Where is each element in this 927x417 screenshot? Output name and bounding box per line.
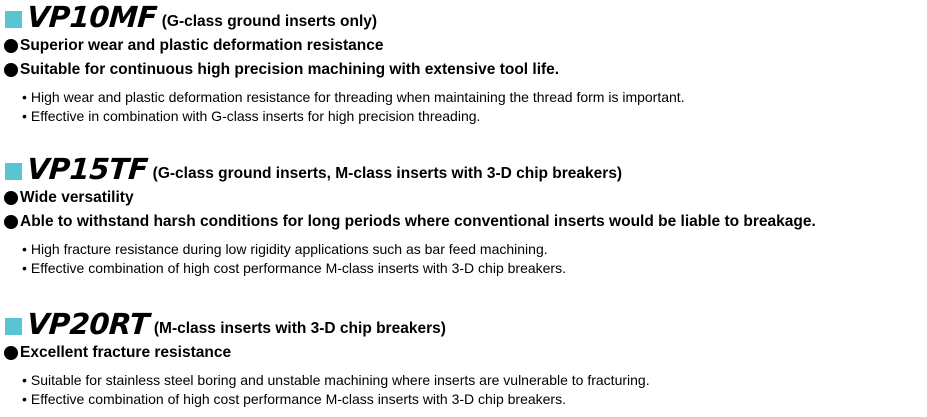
filled-circle-bullet-icon [4, 191, 18, 205]
filled-circle-bullet-icon [4, 346, 18, 360]
middot-bullet-icon: • [22, 259, 27, 278]
headline-item: Excellent fracture resistance [0, 343, 927, 365]
grade-title-row: VP15TF (G-class ground inserts, M-class … [0, 155, 927, 185]
cyan-square-marker-icon [5, 163, 22, 180]
grade-name: VP15TF [26, 155, 155, 184]
middot-bullet-icon: • [22, 88, 27, 107]
headline-text: Suitable for continuous high precision m… [20, 60, 559, 79]
headline-item: Superior wear and plastic deformation re… [0, 36, 927, 58]
sub-bullet-list: • High wear and plastic deformation resi… [0, 88, 927, 126]
grade-title-row: VP20RT (M-class inserts with 3-D chip br… [0, 310, 927, 340]
headline-item: Suitable for continuous high precision m… [0, 60, 927, 82]
grade-section-vp10mf: VP10MF (G-class ground inserts only) Sup… [0, 3, 927, 126]
sub-bullet-item: • Effective combination of high cost per… [22, 390, 927, 409]
sub-bullet-text: Effective combination of high cost perfo… [31, 259, 566, 278]
middot-bullet-icon: • [22, 107, 27, 126]
sub-bullet-item: • Suitable for stainless steel boring an… [22, 371, 927, 390]
grade-name: VP20RT [26, 310, 156, 339]
sub-bullet-text: Effective in combination with G-class in… [31, 107, 481, 126]
sub-bullet-item: • High wear and plastic deformation resi… [22, 88, 927, 107]
filled-circle-bullet-icon [4, 63, 18, 77]
grade-scope-note: (G-class ground inserts only) [162, 13, 377, 31]
grade-feature-sheet: VP10MF (G-class ground inserts only) Sup… [0, 0, 927, 417]
sub-bullet-list: • Suitable for stainless steel boring an… [0, 371, 927, 409]
headline-text: Able to withstand harsh conditions for l… [20, 212, 816, 231]
filled-circle-bullet-icon [4, 39, 18, 53]
middot-bullet-icon: • [22, 371, 27, 390]
grade-section-vp20rt: VP20RT (M-class inserts with 3-D chip br… [0, 310, 927, 409]
sub-bullet-text: Effective combination of high cost perfo… [31, 390, 566, 409]
headline-item: Able to withstand harsh conditions for l… [0, 212, 927, 234]
sub-bullet-text: High fracture resistance during low rigi… [31, 240, 548, 259]
cyan-square-marker-icon [5, 11, 22, 28]
grade-scope-note: (M-class inserts with 3-D chip breakers) [154, 320, 446, 338]
filled-circle-bullet-icon [4, 215, 18, 229]
middot-bullet-icon: • [22, 390, 27, 409]
headline-text: Superior wear and plastic deformation re… [20, 36, 384, 55]
grade-title-row: VP10MF (G-class ground inserts only) [0, 3, 927, 33]
grade-section-vp15tf: VP15TF (G-class ground inserts, M-class … [0, 155, 927, 278]
sub-bullet-list: • High fracture resistance during low ri… [0, 240, 927, 278]
cyan-square-marker-icon [5, 318, 22, 335]
sub-bullet-text: Suitable for stainless steel boring and … [31, 371, 650, 390]
grade-scope-note: (G-class ground inserts, M-class inserts… [153, 165, 622, 183]
middot-bullet-icon: • [22, 240, 27, 259]
headline-item: Wide versatility [0, 188, 927, 210]
sub-bullet-text: High wear and plastic deformation resist… [31, 88, 685, 107]
sub-bullet-item: • High fracture resistance during low ri… [22, 240, 927, 259]
headline-text: Excellent fracture resistance [20, 343, 231, 362]
sub-bullet-item: • Effective combination of high cost per… [22, 259, 927, 278]
headline-text: Wide versatility [20, 188, 134, 207]
grade-name: VP10MF [26, 3, 164, 32]
sub-bullet-item: • Effective in combination with G-class … [22, 107, 927, 126]
